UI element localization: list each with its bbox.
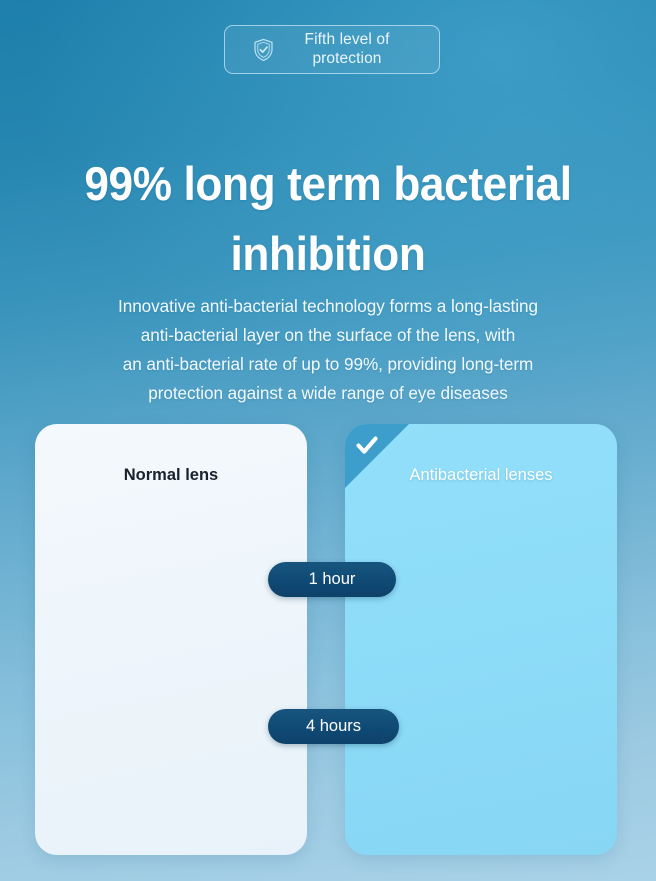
promo-page: Fifth level of protection 99% long term … [0, 0, 656, 881]
page-title: 99% long term bacterial inhibition [20, 149, 637, 288]
protection-level-badge: Fifth level of protection [224, 25, 440, 74]
check-icon [355, 434, 379, 458]
shield-check-icon [253, 38, 274, 62]
antibacterial-lens-card: Antibacterial lenses [345, 424, 617, 855]
time-label-4hours: 4 hours [268, 709, 399, 744]
description-line: Innovative anti-bacterial technology for… [33, 292, 624, 321]
antibacterial-lens-title: Antibacterial lenses [345, 466, 617, 485]
normal-lens-card: Normal lens [35, 424, 307, 855]
description-line: anti-bacterial layer on the surface of t… [33, 321, 624, 350]
description-line: an anti-bacterial rate of up to 99%, pro… [33, 350, 624, 379]
badge-label: Fifth level of protection [283, 31, 411, 69]
description-line: protection against a wide range of eye d… [33, 379, 624, 408]
page-description: Innovative anti-bacterial technology for… [33, 292, 624, 408]
normal-lens-title: Normal lens [35, 466, 307, 485]
time-label-1hour: 1 hour [268, 562, 396, 597]
